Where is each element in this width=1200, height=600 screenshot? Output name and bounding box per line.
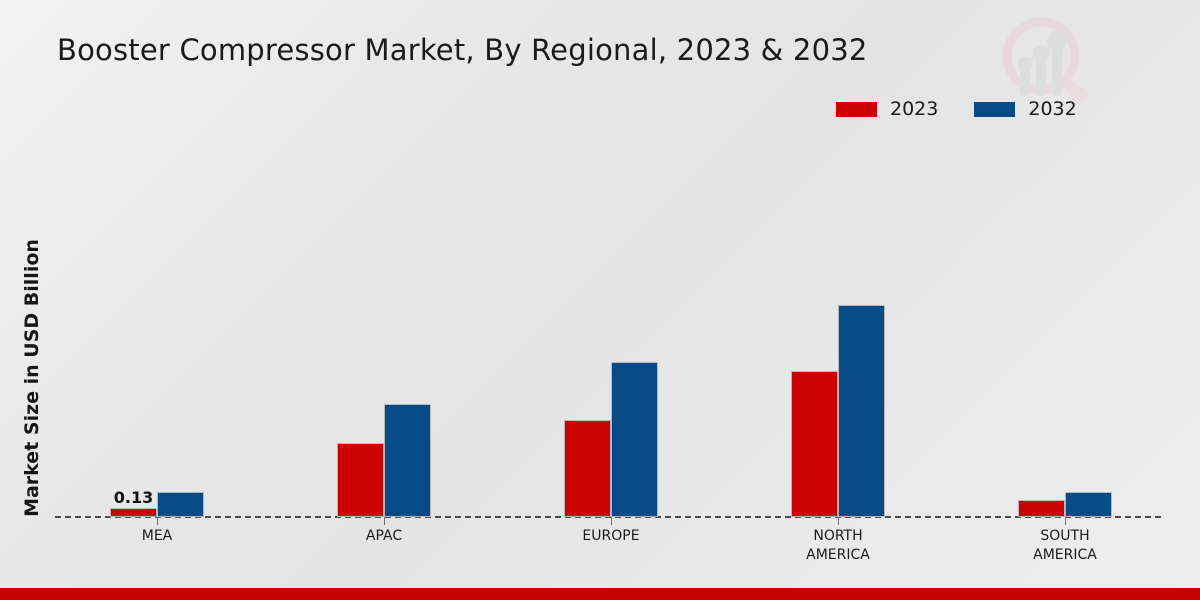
chart-container: Booster Compressor Market, By Regional, … bbox=[0, 0, 1200, 600]
category-label-mea-line-1: MEA bbox=[72, 527, 242, 546]
category-label-south-america: SOUTH AMERICA bbox=[980, 527, 1150, 565]
bar-mea-2032[interactable] bbox=[157, 492, 204, 517]
plot-area: 0.13 MEA APAC EUROPE bbox=[0, 0, 1200, 600]
bar-north-america-2023[interactable] bbox=[791, 371, 838, 517]
category-label-south-america-line-2: AMERICA bbox=[980, 546, 1150, 565]
bar-south-america-2023[interactable] bbox=[1018, 500, 1065, 517]
bar-apac-2032[interactable] bbox=[384, 404, 431, 517]
bar-south-america-2032[interactable] bbox=[1065, 492, 1112, 517]
category-label-south-america-line-1: SOUTH bbox=[980, 527, 1150, 546]
category-label-europe-line-1: EUROPE bbox=[526, 527, 696, 546]
bar-europe-2032[interactable] bbox=[611, 362, 658, 517]
category-label-mea: MEA bbox=[72, 527, 242, 546]
bar-north-america-2032[interactable] bbox=[838, 305, 885, 517]
tick-mark-south-america bbox=[1065, 517, 1066, 525]
tick-mark-apac bbox=[384, 517, 385, 525]
bar-mea-2023[interactable] bbox=[110, 508, 157, 517]
bar-value-label-mea-2023: 0.13 bbox=[110, 488, 157, 507]
tick-mark-north-america bbox=[838, 517, 839, 525]
bar-europe-2023[interactable] bbox=[564, 420, 611, 517]
category-label-europe: EUROPE bbox=[526, 527, 696, 546]
bar-apac-2023[interactable] bbox=[337, 443, 384, 517]
tick-mark-europe bbox=[611, 517, 612, 525]
tick-mark-mea bbox=[157, 517, 158, 525]
category-label-north-america-line-1: NORTH bbox=[753, 527, 923, 546]
category-label-apac-line-1: APAC bbox=[299, 527, 469, 546]
footer-accent-bar bbox=[0, 588, 1200, 600]
category-label-apac: APAC bbox=[299, 527, 469, 546]
category-label-north-america: NORTH AMERICA bbox=[753, 527, 923, 565]
category-label-north-america-line-2: AMERICA bbox=[753, 546, 923, 565]
